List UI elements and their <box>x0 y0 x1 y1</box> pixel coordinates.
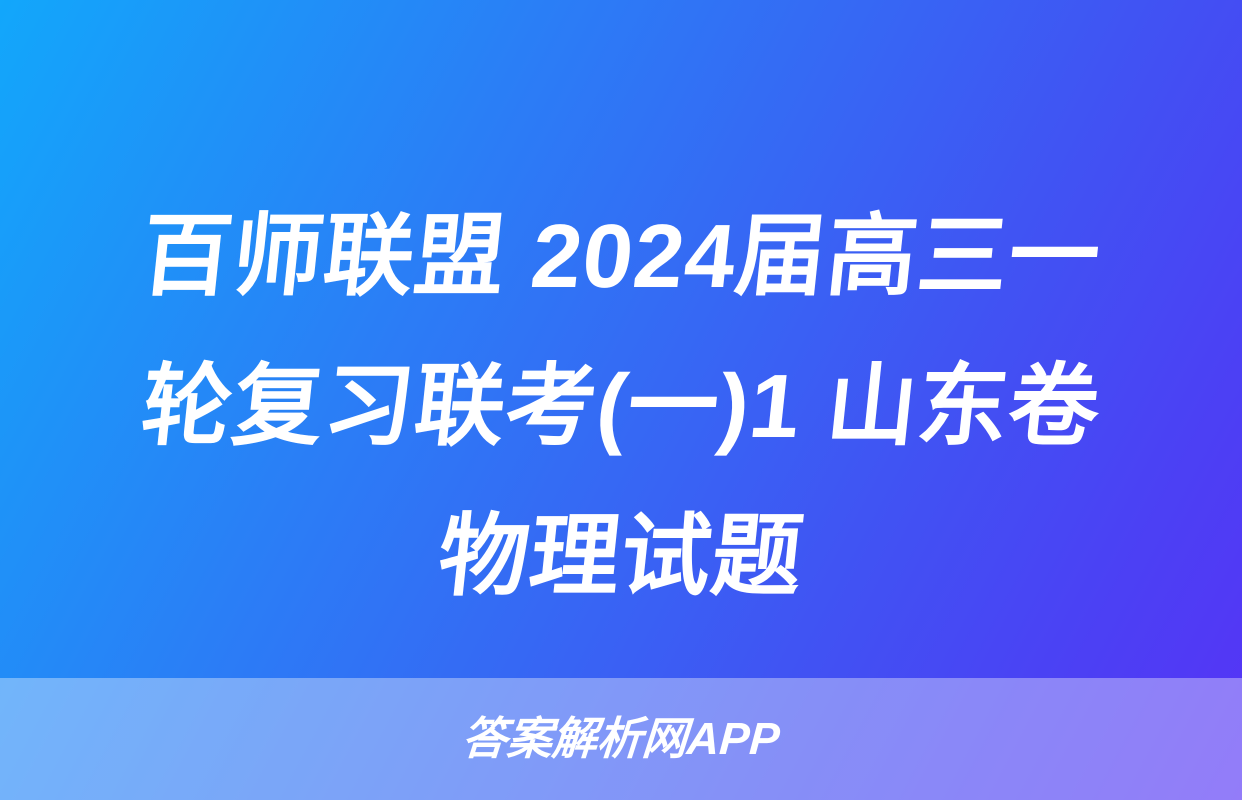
watermark-label: 答案解析网APP <box>461 716 782 763</box>
title-line-2: 轮复习联考(一)1 山东卷 <box>20 332 1222 482</box>
title-line-3: 物理试题 <box>20 482 1222 632</box>
cover-canvas: 百师联盟 2024届高三一 轮复习联考(一)1 山东卷 物理试题 答案解析网AP… <box>0 0 1242 800</box>
watermark-band: 答案解析网APP <box>0 678 1242 800</box>
title-line-1: 百师联盟 2024届高三一 <box>20 182 1222 332</box>
page-title: 百师联盟 2024届高三一 轮复习联考(一)1 山东卷 物理试题 <box>0 182 1242 632</box>
